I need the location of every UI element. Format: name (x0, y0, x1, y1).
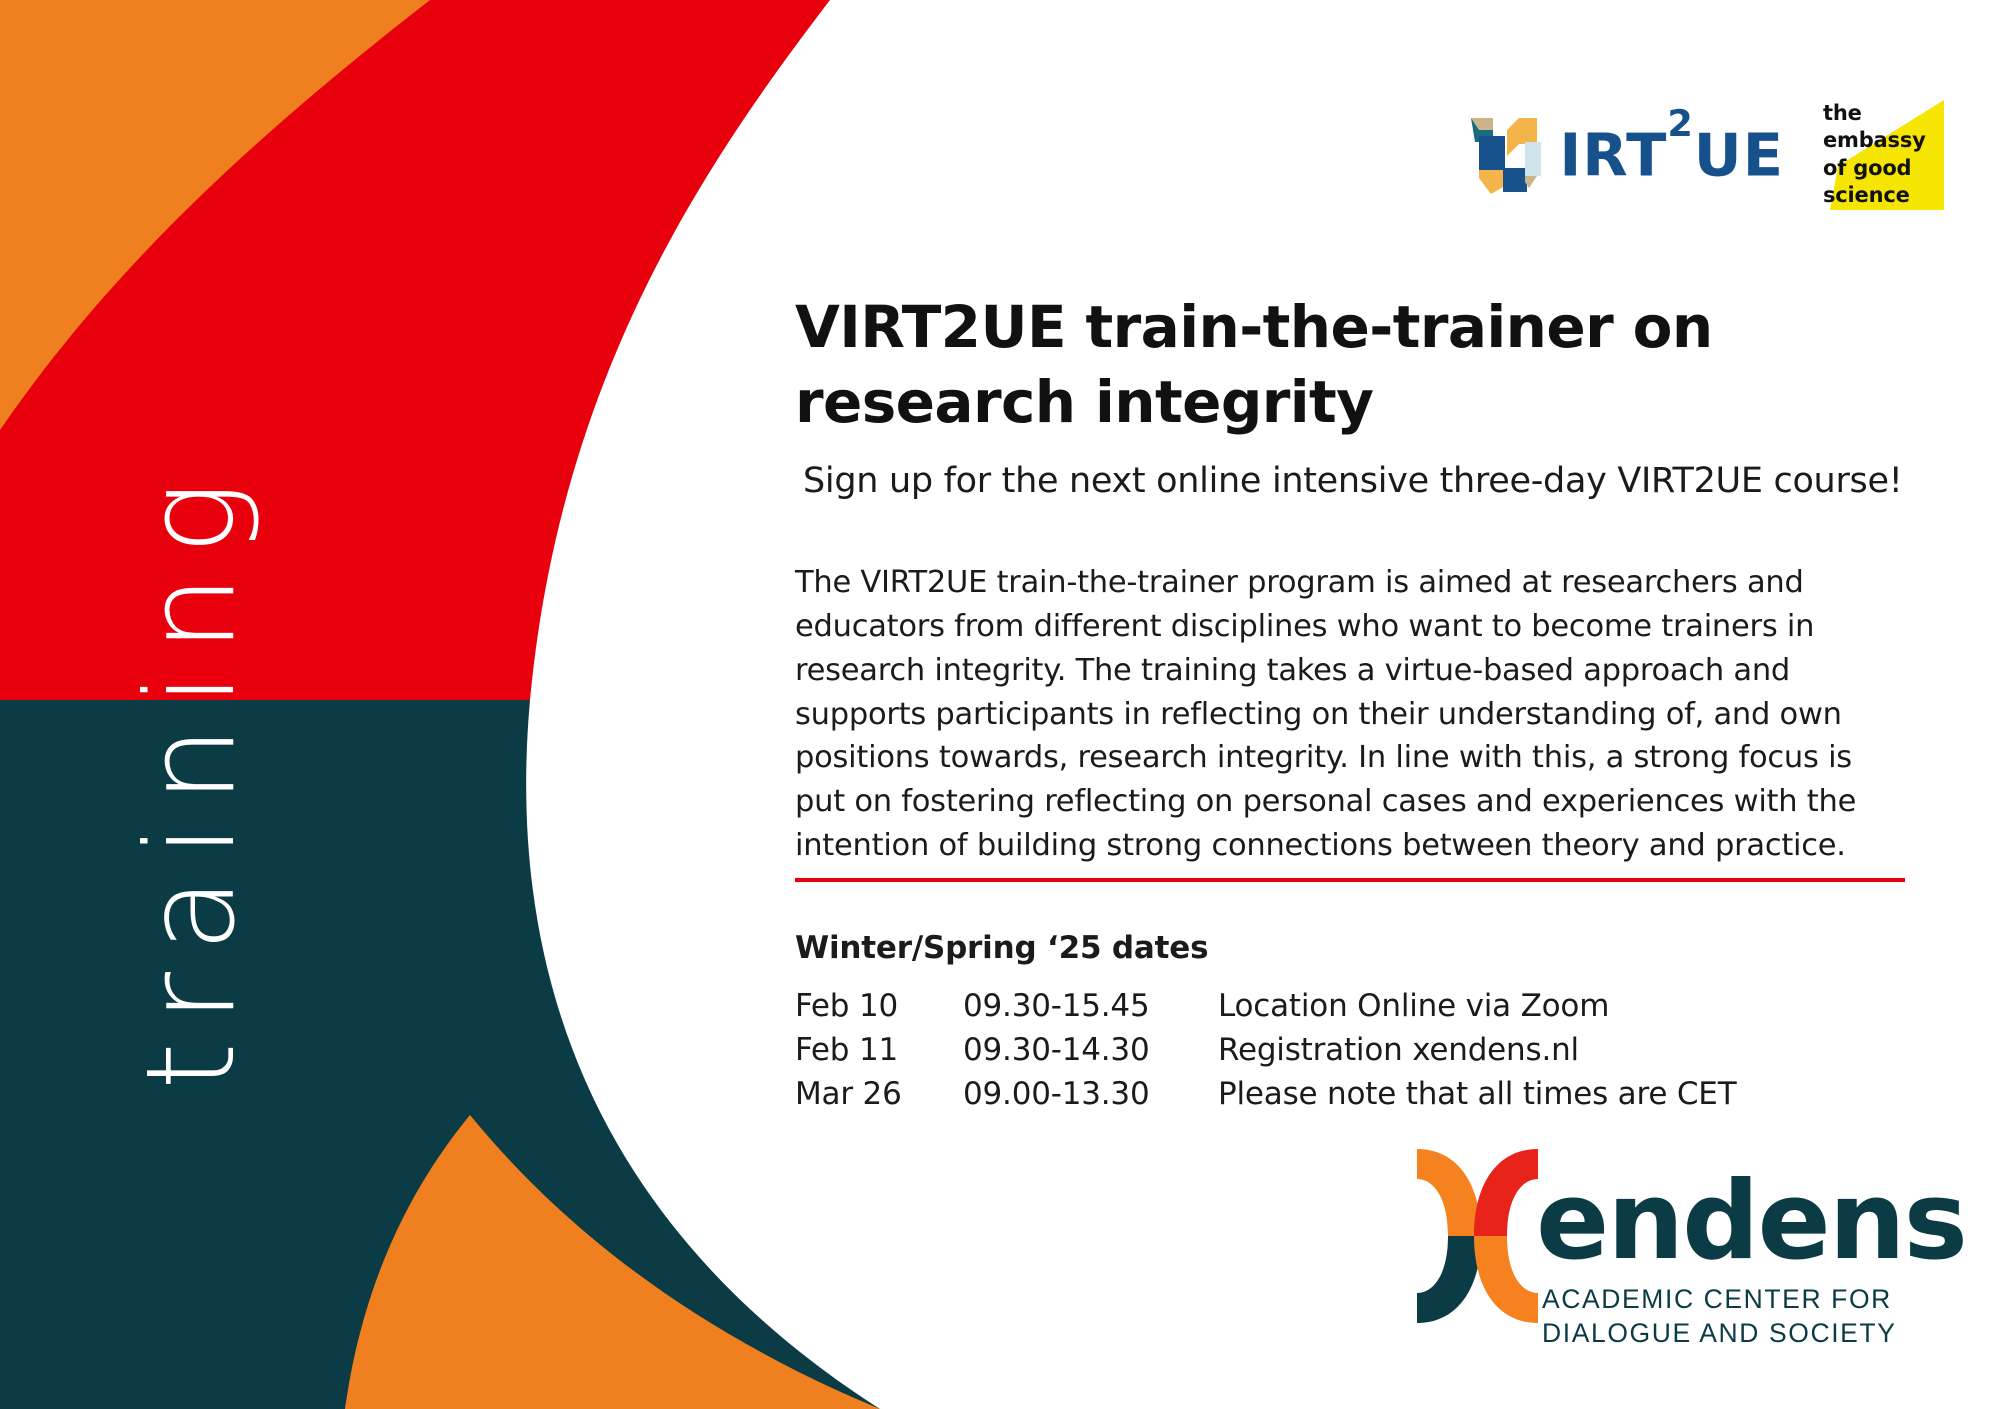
embassy-line-3: of good (1823, 155, 1926, 182)
date-info: Registration xendens.nl (1218, 1028, 1736, 1072)
headline-line-1: VIRT2UE train-the-trainer on (795, 293, 1713, 361)
date-time: 09.30-14.30 (963, 1028, 1218, 1072)
date-day: Feb 10 (795, 984, 963, 1028)
page-title: VIRT2UE train-the-trainer on research in… (795, 290, 1905, 441)
virt2ue-wordmark-superscript: 2 (1667, 102, 1693, 145)
main-content: VIRT2UE train-the-trainer on research in… (795, 290, 1905, 868)
headline-line-2: research integrity (795, 368, 1373, 436)
embassy-of-good-science-logo[interactable]: the embassy of good science (1818, 96, 1944, 214)
poster-canvas: training IRT2UE the (0, 0, 2000, 1409)
table-row: Mar 26 09.00-13.30 Please note that all … (795, 1072, 1736, 1116)
virt2ue-v-mark-icon (1469, 116, 1545, 194)
dates-block: Winter/Spring ‘25 dates Feb 10 09.30-15.… (795, 930, 1736, 1116)
date-info: Please note that all times are CET (1218, 1072, 1736, 1116)
virt2ue-logo[interactable]: IRT2UE (1469, 116, 1784, 194)
subtitle: Sign up for the next online intensive th… (803, 461, 1905, 501)
xendens-logo[interactable]: endens ACADEMIC CENTER FOR DIALOGUE AND … (1415, 1145, 1966, 1351)
xendens-tagline-line-2: DIALOGUE AND SOCIETY (1542, 1317, 1966, 1351)
embassy-line-1: the (1823, 100, 1926, 127)
xendens-tagline-line-1: ACADEMIC CENTER FOR (1542, 1283, 1966, 1317)
xendens-tagline: ACADEMIC CENTER FOR DIALOGUE AND SOCIETY (1542, 1283, 1966, 1351)
xendens-text-block: endens ACADEMIC CENTER FOR DIALOGUE AND … (1536, 1145, 1966, 1351)
virt2ue-wordmark-prefix: IRT (1559, 121, 1667, 190)
date-info: Location Online via Zoom (1218, 984, 1736, 1028)
date-day: Mar 26 (795, 1072, 963, 1116)
xendens-wordmark: endens (1536, 1169, 1966, 1275)
embassy-line-2: embassy (1823, 127, 1926, 154)
table-row: Feb 11 09.30-14.30 Registration xendens.… (795, 1028, 1736, 1072)
header-logo-row: IRT2UE the embassy of good science (1469, 96, 1944, 214)
dates-heading: Winter/Spring ‘25 dates (795, 930, 1736, 966)
red-divider-rule (795, 878, 1905, 882)
date-day: Feb 11 (795, 1028, 963, 1072)
virt2ue-wordmark: IRT2UE (1559, 125, 1784, 185)
embassy-logo-text: the embassy of good science (1823, 100, 1926, 209)
date-time: 09.30-15.45 (963, 984, 1218, 1028)
embassy-line-4: science (1823, 182, 1926, 209)
date-time: 09.00-13.30 (963, 1072, 1218, 1116)
body-paragraph: The VIRT2UE train-the-trainer program is… (795, 561, 1870, 868)
table-row: Feb 10 09.30-15.45 Location Online via Z… (795, 984, 1736, 1028)
virt2ue-wordmark-suffix: UE (1694, 121, 1784, 190)
xendens-x-mark-icon (1415, 1141, 1540, 1331)
